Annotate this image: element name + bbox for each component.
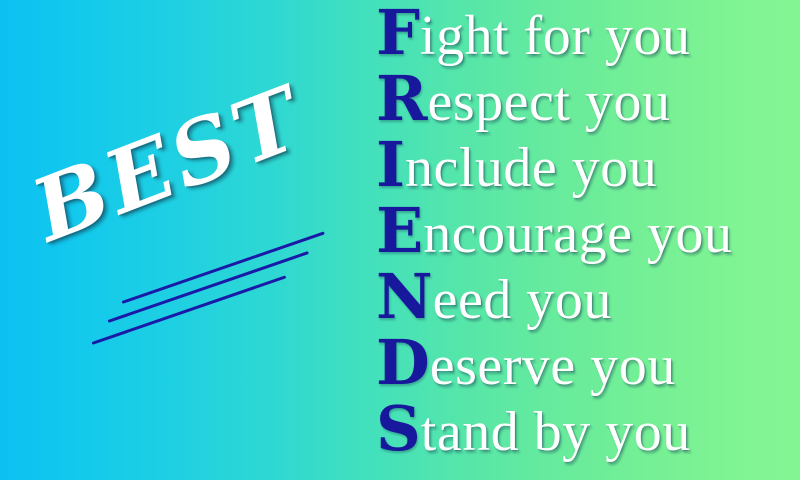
underline-stroke-2 <box>108 251 309 323</box>
acrostic-text-r: espect you <box>428 71 671 133</box>
acrostic-text-f: ight for you <box>420 5 690 67</box>
acrostic-list: Fight for you Respect you Include you En… <box>376 0 800 480</box>
best-badge-group: BEST <box>0 0 360 480</box>
acrostic-initial-n: N <box>376 260 433 333</box>
acrostic-text-n: eed you <box>433 269 612 331</box>
acrostic-line-i: Include you <box>376 132 657 198</box>
underline-stroke-1 <box>122 231 325 304</box>
underline-stroke-3 <box>92 275 287 345</box>
best-script-word: BEST <box>23 74 316 255</box>
acrostic-initial-i: I <box>376 128 405 201</box>
friendship-acrostic-poster: BEST Fight for you Respect you Include y… <box>0 0 800 480</box>
acrostic-initial-d: D <box>376 326 430 399</box>
acrostic-line-f: Fight for you <box>376 0 690 66</box>
acrostic-line-d: Deserve you <box>376 330 676 396</box>
acrostic-line-r: Respect you <box>376 66 670 132</box>
acrostic-line-e: Encourage you <box>376 198 732 264</box>
acrostic-text-i: nclude you <box>405 137 657 199</box>
acrostic-initial-s: S <box>376 392 421 465</box>
acrostic-line-n: Need you <box>376 264 612 330</box>
acrostic-text-s: tand by you <box>421 401 691 463</box>
acrostic-initial-e: E <box>376 194 423 267</box>
acrostic-line-s: Stand by you <box>376 396 691 462</box>
acrostic-text-d: eserve you <box>430 335 676 397</box>
acrostic-initial-f: F <box>376 0 420 69</box>
acrostic-initial-r: R <box>376 62 428 135</box>
acrostic-text-e: ncourage you <box>423 203 732 265</box>
